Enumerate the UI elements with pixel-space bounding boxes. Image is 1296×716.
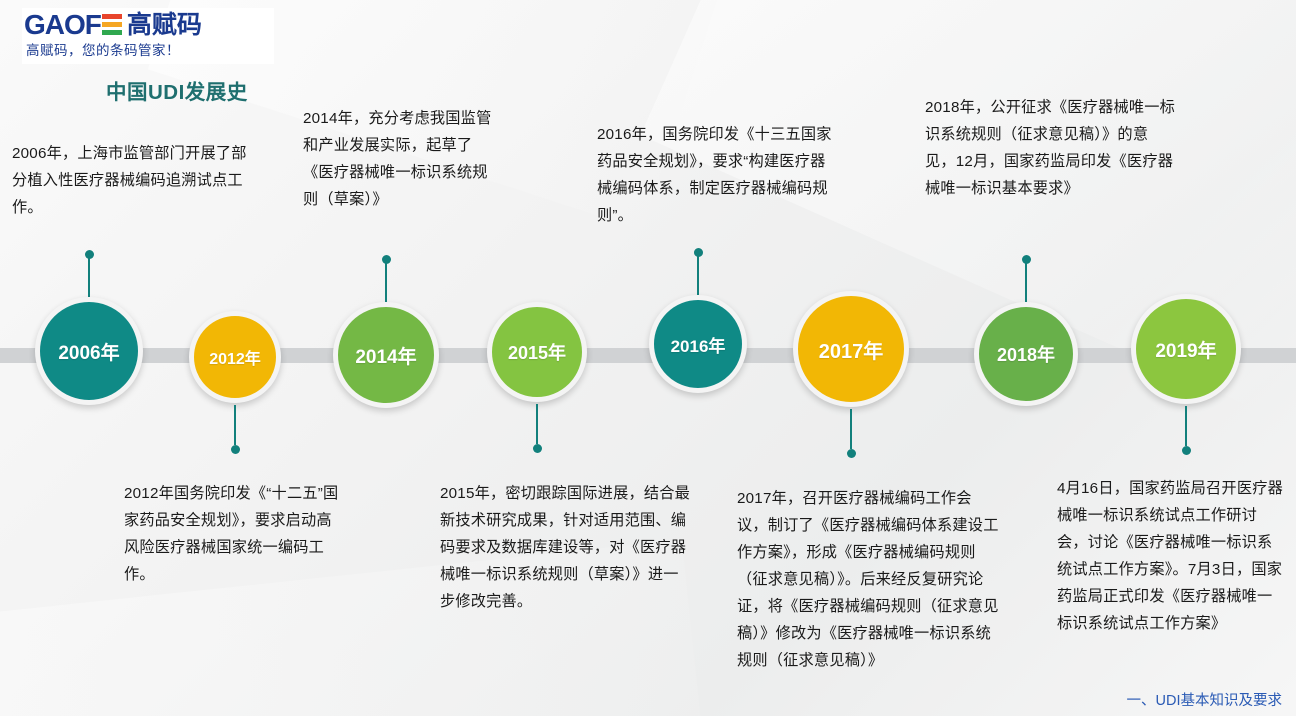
- logo-chinese-name: 高赋码: [127, 10, 202, 40]
- timeline-node-label: 2012年: [209, 345, 261, 369]
- connector-dot-2019: [1182, 446, 1191, 455]
- page-title: 中国UDI发展史: [106, 75, 248, 105]
- connector-dot-2014: [382, 255, 391, 264]
- timeline-node-2012[interactable]: 2012年: [189, 311, 281, 403]
- timeline-node-2018[interactable]: 2018年: [974, 302, 1078, 406]
- connector-line-2012: [234, 405, 236, 445]
- connector-line-2016: [697, 255, 699, 295]
- logo-tagline: 高赋码，您的条码管家！: [22, 42, 274, 60]
- timeline-entry-text-2012: 2012年国务院印发《“十二五”国家药品安全规划》，要求启动高风险医疗器械国家统…: [124, 480, 340, 588]
- connector-line-2017: [850, 409, 852, 449]
- timeline-node-2006[interactable]: 2006年: [35, 297, 143, 405]
- slide-canvas: GAOF 高赋码 高赋码，您的条码管家！ 中国UDI发展史 2006年2012年…: [0, 0, 1296, 716]
- connector-dot-2015: [533, 444, 542, 453]
- connector-dot-2018: [1022, 255, 1031, 264]
- connector-dot-2012: [231, 445, 240, 454]
- timeline-entry-text-2014: 2014年，充分考虑我国监管和产业发展实际，起草了《医疗器械唯一标识系统规则（草…: [303, 105, 503, 213]
- logo-wordmark: GAOF: [24, 10, 101, 40]
- connector-line-2015: [536, 404, 538, 444]
- timeline-node-2014[interactable]: 2014年: [333, 302, 439, 408]
- timeline-node-2019[interactable]: 2019年: [1131, 294, 1241, 404]
- connector-dot-2016: [694, 248, 703, 257]
- timeline-node-label: 2018年: [997, 341, 1055, 367]
- timeline-entry-text-2017: 2017年，召开医疗器械编码工作会议，制订了《医疗器械编码体系建设工作方案》，形…: [737, 485, 1002, 674]
- timeline-node-2016[interactable]: 2016年: [649, 295, 747, 393]
- connector-line-2019: [1185, 406, 1187, 446]
- timeline-node-label: 2014年: [355, 342, 416, 369]
- connector-line-2006: [88, 257, 90, 297]
- logo-row: GAOF 高赋码: [22, 8, 274, 42]
- connector-dot-2017: [847, 449, 856, 458]
- connector-line-2018: [1025, 262, 1027, 302]
- timeline-node-label: 2015年: [508, 339, 566, 365]
- timeline-node-label: 2019年: [1155, 336, 1216, 363]
- brand-logo: GAOF 高赋码 高赋码，您的条码管家！: [22, 8, 274, 64]
- connector-line-2014: [385, 262, 387, 302]
- connector-dot-2006: [85, 250, 94, 259]
- barcode-icon: [102, 13, 122, 37]
- timeline-entry-text-2006: 2006年，上海市监管部门开展了部分植入性医疗器械编码追溯试点工作。: [12, 140, 248, 221]
- timeline-entry-text-2019: 4月16日，国家药监局召开医疗器械唯一标识系统试点工作研讨会，讨论《医疗器械唯一…: [1057, 475, 1285, 637]
- timeline-node-label: 2006年: [58, 338, 119, 365]
- timeline-entry-text-2018: 2018年，公开征求《医疗器械唯一标识系统规则（征求意见稿）》的意见，12月，国…: [925, 94, 1175, 202]
- timeline-node-label: 2016年: [671, 332, 726, 357]
- timeline-entry-text-2016: 2016年，国务院印发《十三五国家药品安全规划》，要求“构建医疗器械编码体系，制…: [597, 121, 833, 229]
- timeline-node-2015[interactable]: 2015年: [487, 302, 587, 402]
- footer-section-label: 一、UDI基本知识及要求: [1127, 689, 1282, 710]
- timeline-entry-text-2015: 2015年，密切跟踪国际进展，结合最新技术研究成果，针对适用范围、编码要求及数据…: [440, 480, 690, 615]
- timeline-node-label: 2017年: [819, 335, 884, 364]
- timeline-node-2017[interactable]: 2017年: [793, 291, 909, 407]
